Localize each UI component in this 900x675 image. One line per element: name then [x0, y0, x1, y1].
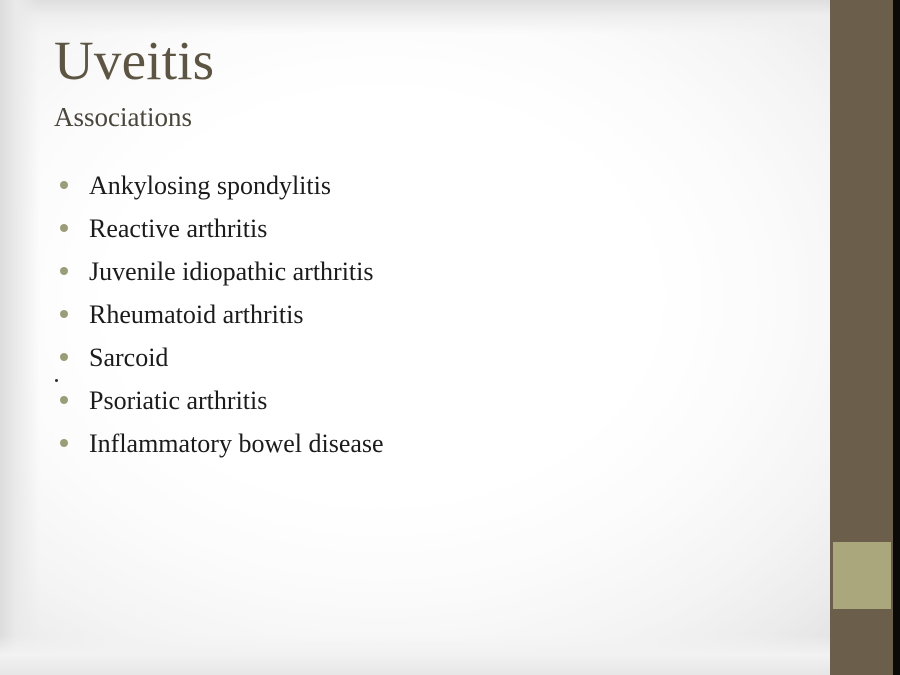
list-item: Rheumatoid arthritis: [60, 293, 800, 336]
slide-subtitle: Associations: [54, 104, 192, 131]
list-item: Ankylosing spondylitis: [60, 164, 800, 207]
list-item-label: Ankylosing spondylitis: [89, 164, 331, 207]
bullet-dot-icon: [60, 310, 68, 318]
list-item: Sarcoid: [60, 336, 800, 379]
bullet-dot-icon: [60, 396, 68, 404]
bullet-dot-icon: [60, 353, 68, 361]
list-item-label: Reactive arthritis: [89, 207, 267, 250]
list-item: Inflammatory bowel disease: [60, 422, 800, 465]
scan-artifact-speck: [55, 379, 58, 382]
associations-list: Ankylosing spondylitis Reactive arthriti…: [60, 164, 800, 465]
list-item-label: Sarcoid: [89, 336, 168, 379]
list-item: Juvenile idiopathic arthritis: [60, 250, 800, 293]
list-item-label: Juvenile idiopathic arthritis: [89, 250, 374, 293]
list-item-label: Rheumatoid arthritis: [89, 293, 303, 336]
bullet-dot-icon: [60, 267, 68, 275]
list-item: Reactive arthritis: [60, 207, 800, 250]
slide-title: Uveitis: [54, 33, 214, 88]
slide-right-edge: [893, 0, 900, 675]
bullet-dot-icon: [60, 439, 68, 447]
list-item-label: Inflammatory bowel disease: [89, 422, 384, 465]
list-item-label: Psoriatic arthritis: [89, 379, 267, 422]
bullet-dot-icon: [60, 181, 68, 189]
slide-side-band-accent: [833, 542, 891, 609]
list-item: Psoriatic arthritis: [60, 379, 800, 422]
presentation-slide: Uveitis Associations Ankylosing spondyli…: [0, 0, 900, 675]
bullet-dot-icon: [60, 224, 68, 232]
